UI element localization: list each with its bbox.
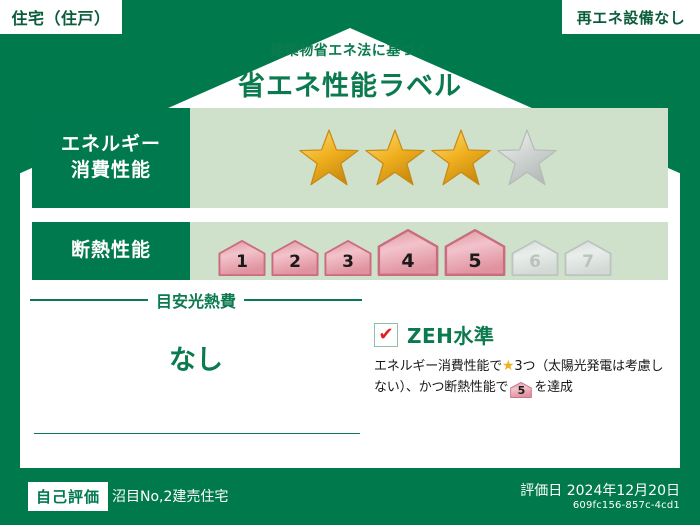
heading-rule-left	[30, 299, 148, 301]
label-footer: 自己評価 沼目No,2建売住宅 評価日 2024年12月20日 609fc156…	[0, 468, 700, 525]
inline-star-icon: ★	[502, 358, 514, 374]
insulation-performance-body: 1234567	[190, 222, 668, 280]
utility-cost-heading: 目安光熱費	[30, 288, 362, 312]
zeh-title: ZEH水準	[407, 320, 494, 349]
star-filled-icon	[364, 127, 426, 189]
insulation-level-number: 5	[468, 250, 481, 276]
zeh-checkbox-icon: ✔	[374, 323, 398, 347]
zeh-heading: ✔ ZEH水準	[374, 320, 666, 349]
insulation-level-number: 7	[582, 252, 594, 276]
energy-performance-label: エネルギー 消費性能	[32, 108, 190, 208]
energy-label-root: 住宅（住戸） 再エネ設備なし 建築物省エネ法に基づく 省エネ性能ラベル エネルギ…	[0, 0, 700, 525]
self-evaluation-badge: 自己評価	[28, 482, 108, 511]
zeh-desc-part2: 3つ（太陽光発電	[514, 359, 612, 374]
energy-performance-body	[190, 108, 668, 208]
insulation-level-scale: 1234567	[218, 226, 612, 276]
star-empty-icon	[496, 127, 558, 189]
insulation-level-2: 2	[271, 240, 319, 276]
energy-label-line1: エネルギー	[61, 132, 161, 158]
insulation-level-number: 4	[401, 250, 414, 276]
star-filled-icon	[430, 127, 492, 189]
insulation-performance-row: 断熱性能 1234567	[32, 222, 668, 280]
zeh-block: ✔ ZEH水準 エネルギー消費性能で★3つ（太陽光発電は考慮しない）、かつ断熱性…	[374, 320, 666, 398]
star-filled-icon	[298, 127, 360, 189]
insulation-level-3: 3	[324, 240, 372, 276]
insulation-level-number: 6	[529, 252, 541, 276]
label-title-block: 建築物省エネ法に基づく 省エネ性能ラベル	[0, 40, 700, 103]
label-subtitle: 建築物省エネ法に基づく	[0, 40, 700, 60]
insulation-level-5: 5	[444, 229, 506, 276]
project-name: 沼目No,2建売住宅	[112, 486, 228, 506]
star-rating	[298, 127, 558, 189]
insulation-level-1: 1	[218, 240, 266, 276]
renewable-equipment-tag: 再エネ設備なし	[562, 0, 700, 34]
inline-house-icon: 5	[510, 382, 532, 398]
heading-rule-right	[244, 299, 362, 301]
cost-section-divider	[34, 433, 360, 434]
evaluation-id: 609fc156-857c-4cd1	[573, 500, 680, 511]
zeh-description: エネルギー消費性能で★3つ（太陽光発電は考慮しない）、かつ断熱性能で5を達成	[374, 356, 666, 398]
evaluation-date: 評価日 2024年12月20日	[520, 480, 680, 500]
label-title: 省エネ性能ラベル	[0, 64, 700, 103]
insulation-level-6: 6	[511, 240, 559, 276]
insulation-level-number: 3	[342, 252, 354, 276]
zeh-desc-part1: エネルギー消費性能で	[374, 359, 502, 374]
utility-cost-value: なし	[30, 338, 362, 377]
insulation-level-number: 1	[236, 252, 248, 276]
utility-cost-heading-text: 目安光熱費	[156, 288, 236, 312]
insulation-level-number: 2	[289, 252, 301, 276]
insulation-level-4: 4	[377, 229, 439, 276]
insulation-level-7: 7	[564, 240, 612, 276]
energy-performance-row: エネルギー 消費性能	[32, 108, 668, 208]
energy-label-line2: 消費性能	[71, 158, 151, 184]
insulation-performance-label: 断熱性能	[32, 222, 190, 280]
inline-house-number: 5	[518, 384, 525, 397]
building-type-tag: 住宅（住戸）	[0, 0, 122, 34]
insulation-label-text: 断熱性能	[71, 238, 151, 264]
zeh-desc-part4: を達成	[534, 380, 572, 395]
